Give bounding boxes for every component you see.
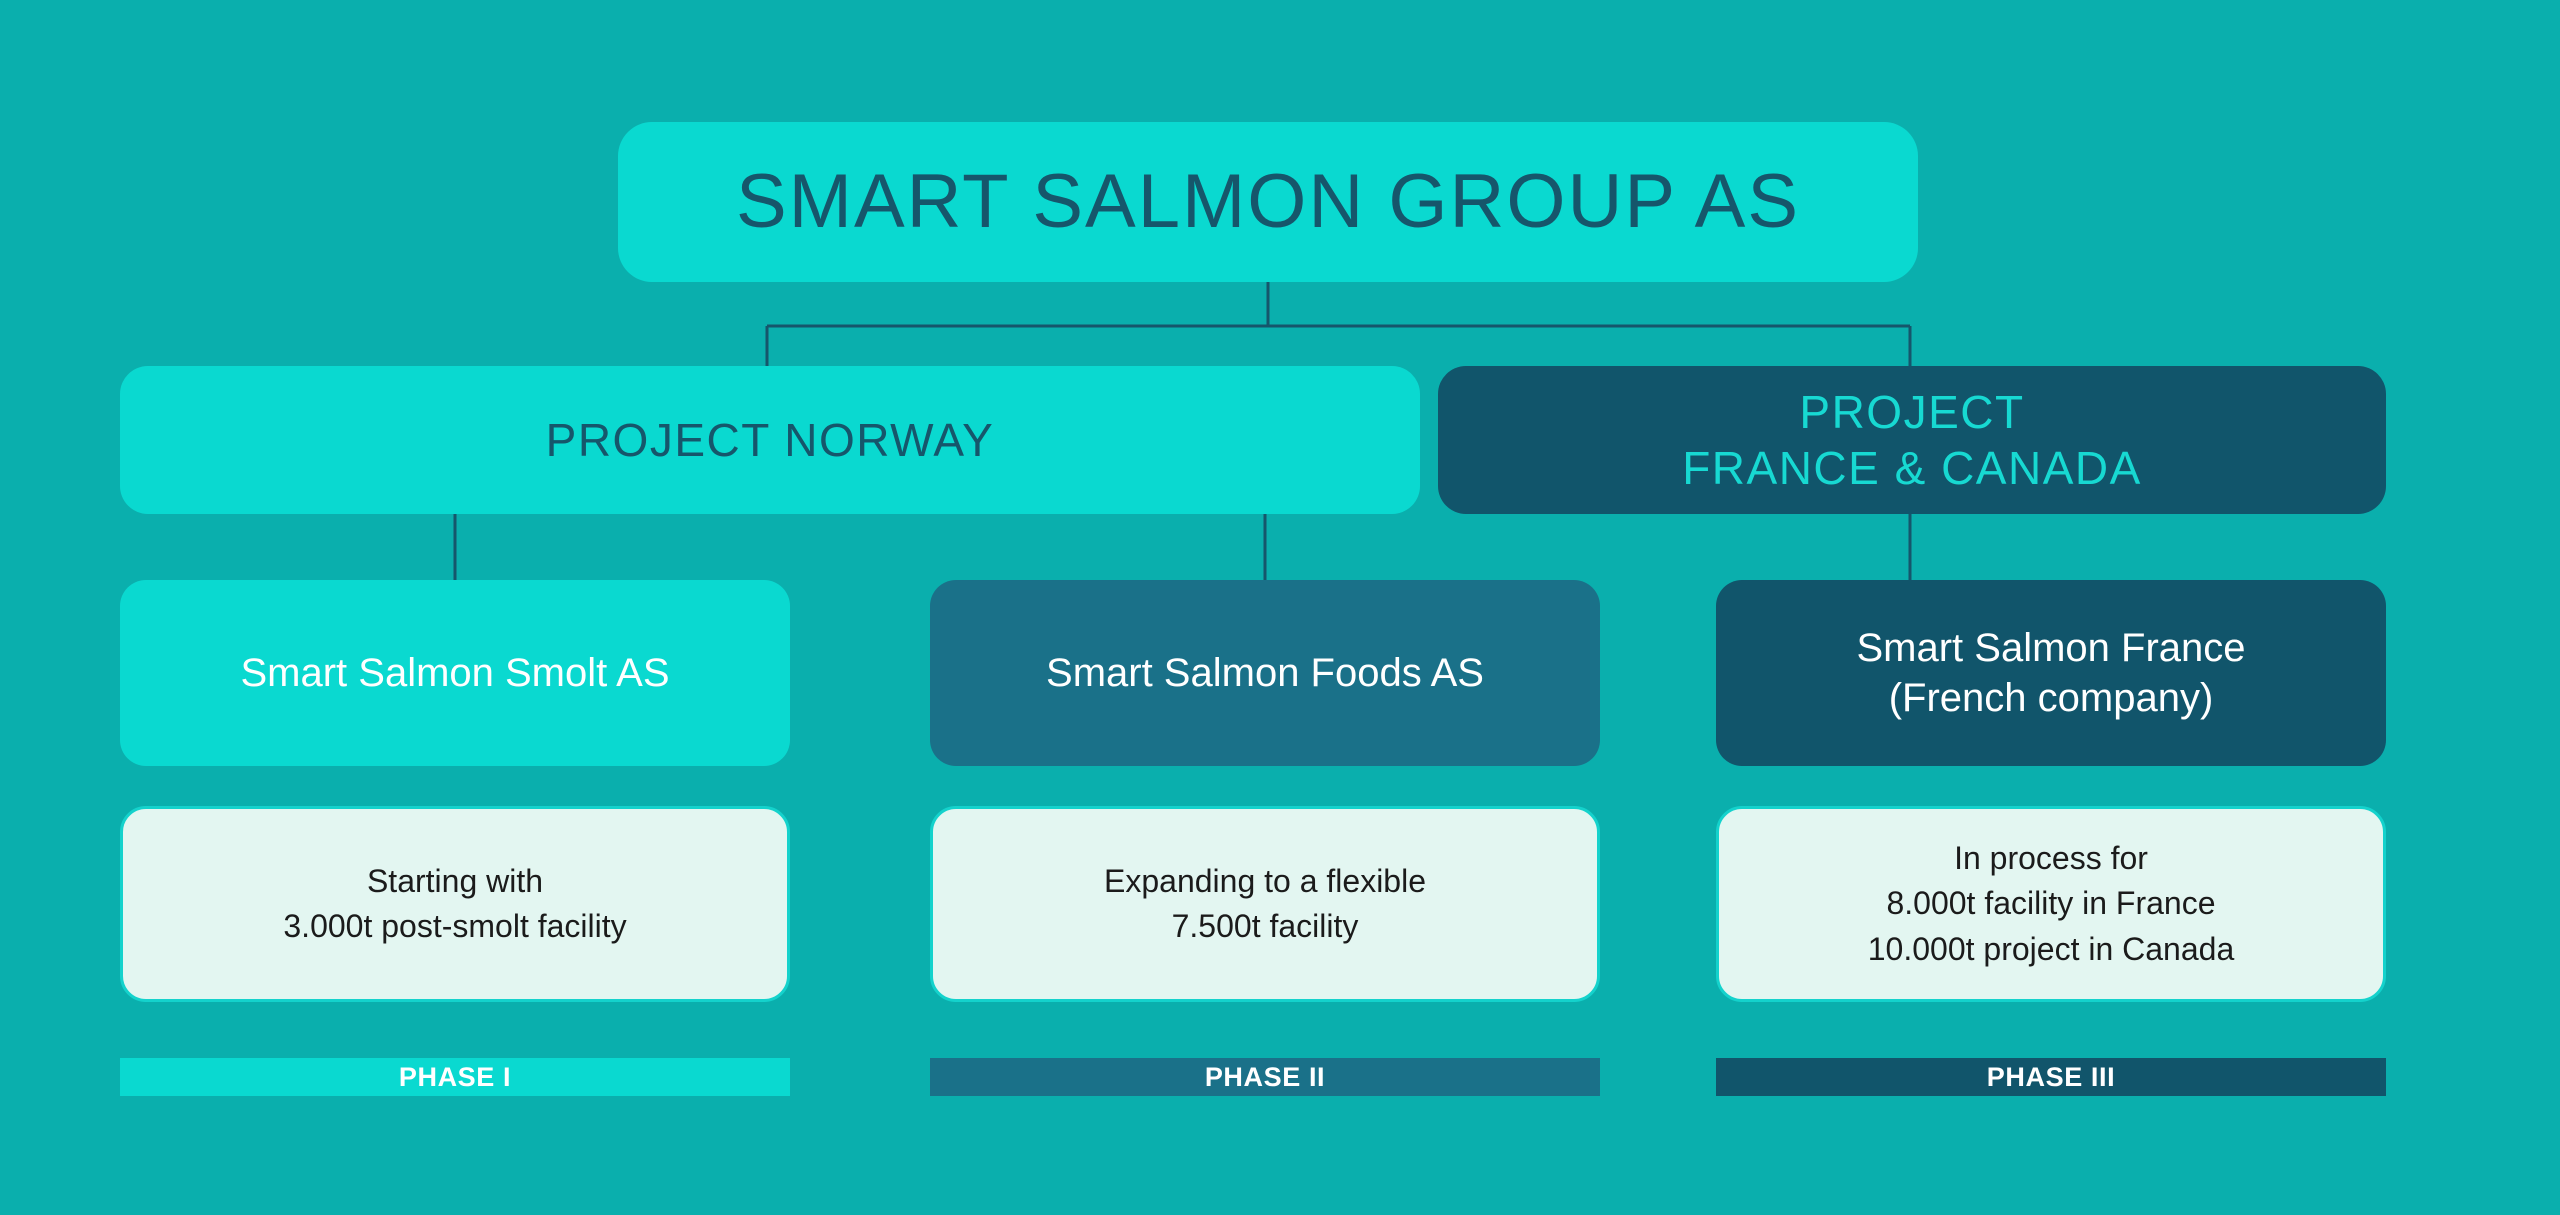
phase-bar-1: PHASE I [120,1058,790,1096]
description-text-smolt: Starting with 3.000t post-smolt facility [283,859,626,950]
level2-node-label-norway: PROJECT NORWAY [546,412,995,468]
root-node-label: SMART SALMON GROUP AS [736,162,1800,242]
description-text-foods: Expanding to a flexible 7.500t facility [1104,859,1426,950]
phase-bar-3: PHASE III [1716,1058,2386,1096]
level2-node-project-norway[interactable]: PROJECT NORWAY [120,366,1420,514]
description-line-2: 8.000t facility in France [1886,885,2215,921]
level2-node-label-france-canada: PROJECT FRANCE & CANADA [1682,384,2142,496]
company-label-line-1: Smart Salmon France [1856,626,2245,670]
level2-label-line-2: FRANCE & CANADA [1682,442,2142,494]
description-card-smolt: Starting with 3.000t post-smolt facility [120,806,790,1002]
description-text-france: In process for 8.000t facility in France… [1868,836,2234,972]
description-line-2: 7.500t facility [1172,908,1359,944]
level2-node-project-france-canada[interactable]: PROJECT FRANCE & CANADA [1438,366,2386,514]
description-line-1: Expanding to a flexible [1104,863,1426,899]
company-node-label-smolt: Smart Salmon Smolt AS [240,648,669,698]
description-card-france: In process for 8.000t facility in France… [1716,806,2386,1002]
description-line-3: 10.000t project in Canada [1868,931,2234,967]
description-line-1: In process for [1954,840,2148,876]
level2-label-line-1: PROJECT [1799,386,2024,438]
description-line-1: Starting with [367,863,543,899]
org-chart-canvas: SMART SALMON GROUP AS PROJECT NORWAY PRO… [0,0,2560,1215]
company-node-label-foods: Smart Salmon Foods AS [1046,648,1484,698]
phase-bar-2: PHASE II [930,1058,1600,1096]
description-line-2: 3.000t post-smolt facility [283,908,626,944]
company-node-smart-salmon-smolt[interactable]: Smart Salmon Smolt AS [120,580,790,766]
root-node-smart-salmon-group[interactable]: SMART SALMON GROUP AS [618,122,1918,282]
company-node-smart-salmon-france[interactable]: Smart Salmon France (French company) [1716,580,2386,766]
company-node-label-france: Smart Salmon France (French company) [1856,623,2245,723]
phase-bar-label-2: PHASE II [1205,1064,1325,1091]
phase-bar-label-3: PHASE III [1987,1064,2115,1091]
company-label-line-2: (French company) [1889,676,2214,720]
phase-bar-label-1: PHASE I [399,1064,511,1091]
description-card-foods: Expanding to a flexible 7.500t facility [930,806,1600,1002]
company-node-smart-salmon-foods[interactable]: Smart Salmon Foods AS [930,580,1600,766]
